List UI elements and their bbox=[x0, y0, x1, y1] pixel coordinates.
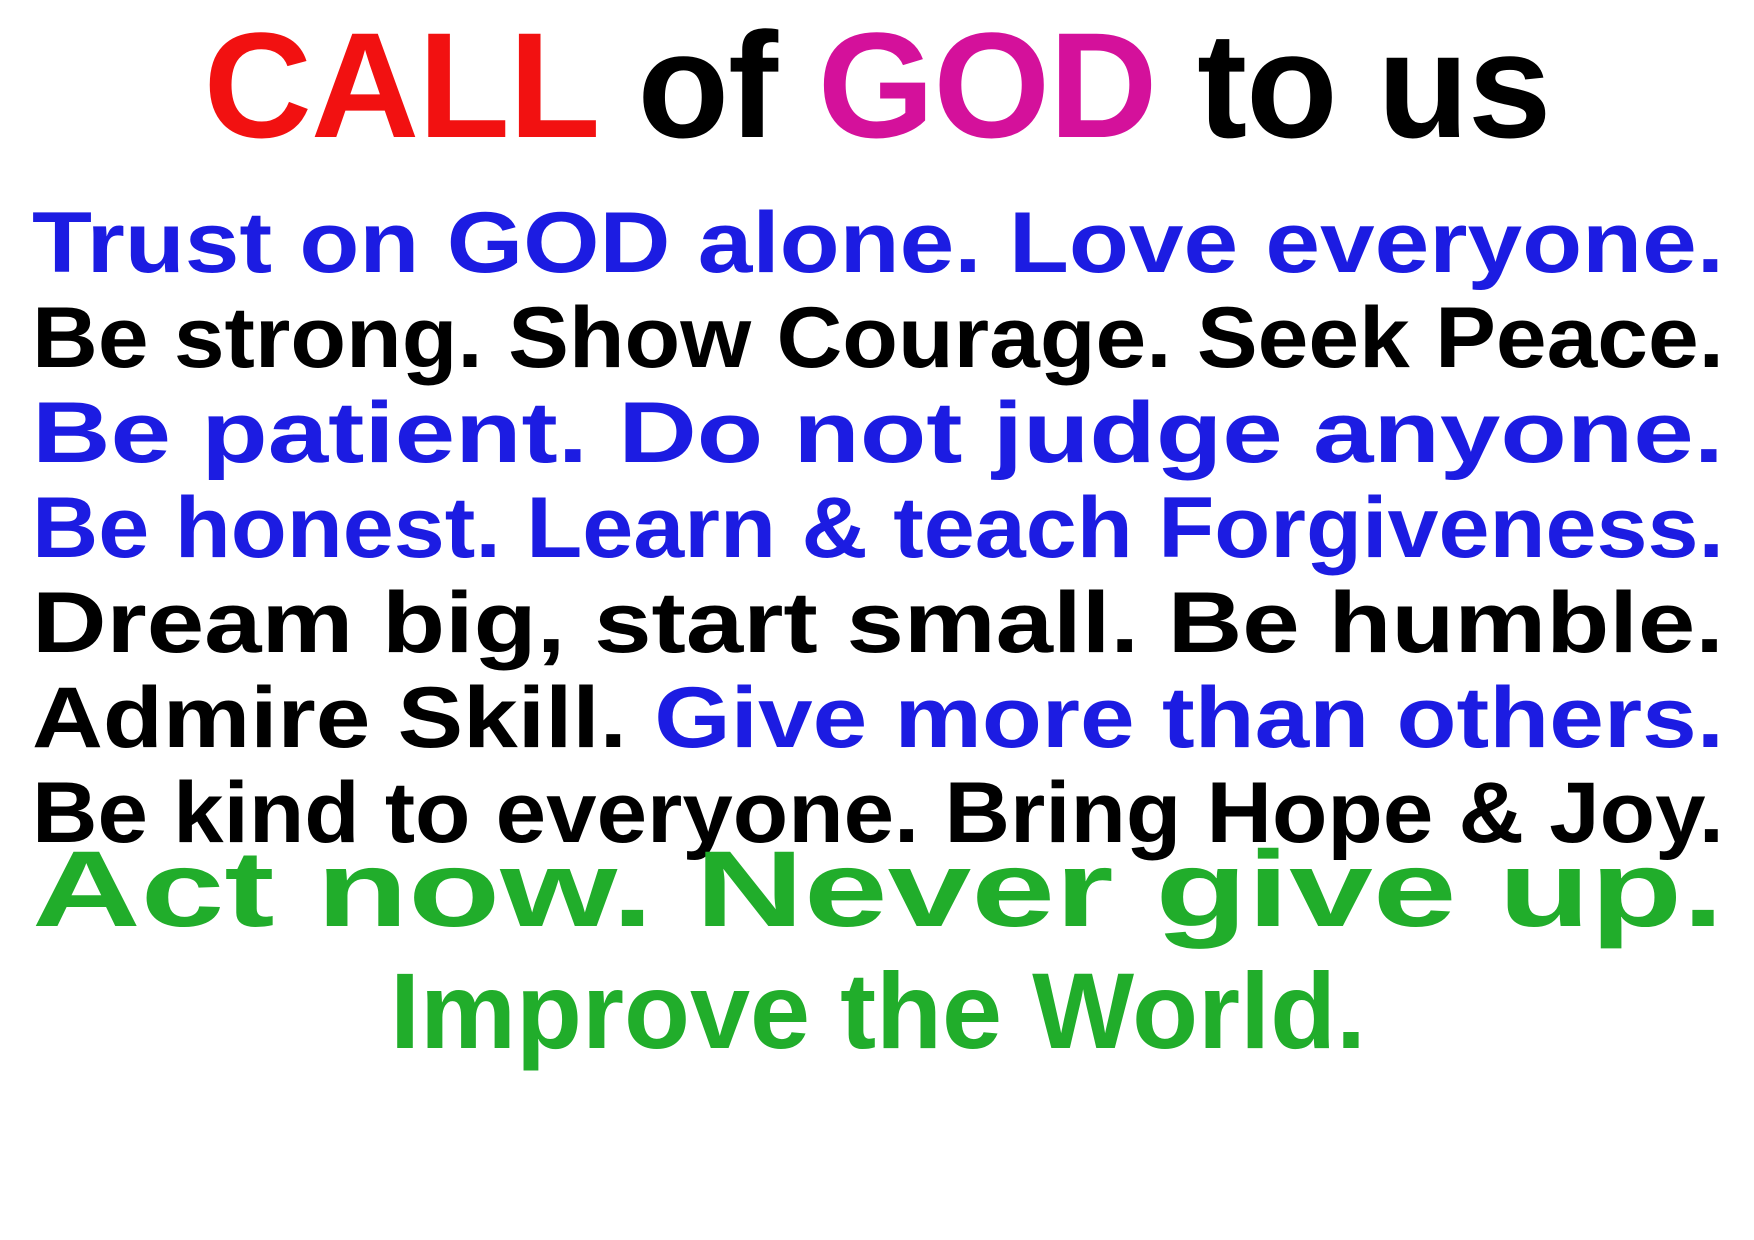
maxim-line-2-text: Be patient. Do not judge anyone. bbox=[32, 385, 1724, 481]
title-segment-to-us: to us bbox=[1156, 1, 1550, 169]
cta-line-1-text: Improve the World. bbox=[390, 950, 1366, 1071]
maxim-line-1: Be strong. Show Courage. Seek Peace. bbox=[32, 291, 1754, 386]
maxim-line-4-text: Dream big, start small. Be humble. bbox=[32, 575, 1724, 671]
title-segment-of: of bbox=[597, 1, 818, 169]
page-title: CALL of GOD to us bbox=[0, 10, 1754, 160]
title-segment-god: GOD bbox=[818, 1, 1157, 169]
maxim-line-0-text: Trust on GOD alone. Love everyone. bbox=[32, 195, 1724, 291]
maxim-line-5: Admire Skill. Give more than others. bbox=[32, 671, 1754, 766]
cta-line-1: Improve the World. bbox=[32, 950, 1724, 1072]
cta-line-0: Act now. Never give up. bbox=[32, 828, 1754, 950]
maxim-line-0: Trust on GOD alone. Love everyone. bbox=[32, 196, 1754, 291]
maxim-line-1-text: Be strong. Show Courage. Seek Peace. bbox=[32, 290, 1724, 386]
cta-line-0-text: Act now. Never give up. bbox=[32, 828, 1724, 949]
poster-canvas: CALL of GOD to us Trust on GOD alone. Lo… bbox=[0, 0, 1754, 1240]
title-segment-call: CALL bbox=[204, 1, 597, 169]
maxim-line-5-text-blue: Give more than others. bbox=[654, 670, 1724, 766]
maxim-list: Trust on GOD alone. Love everyone. Be st… bbox=[32, 196, 1724, 861]
maxim-line-5-text-black: Admire Skill. bbox=[32, 670, 654, 766]
call-to-action-list: Act now. Never give up. Improve the Worl… bbox=[32, 828, 1724, 1072]
maxim-line-4: Dream big, start small. Be humble. bbox=[32, 576, 1754, 671]
maxim-line-3-text: Be honest. Learn & teach Forgiveness. bbox=[32, 480, 1724, 576]
maxim-line-2: Be patient. Do not judge anyone. bbox=[32, 386, 1754, 481]
maxim-line-3: Be honest. Learn & teach Forgiveness. bbox=[32, 481, 1754, 576]
